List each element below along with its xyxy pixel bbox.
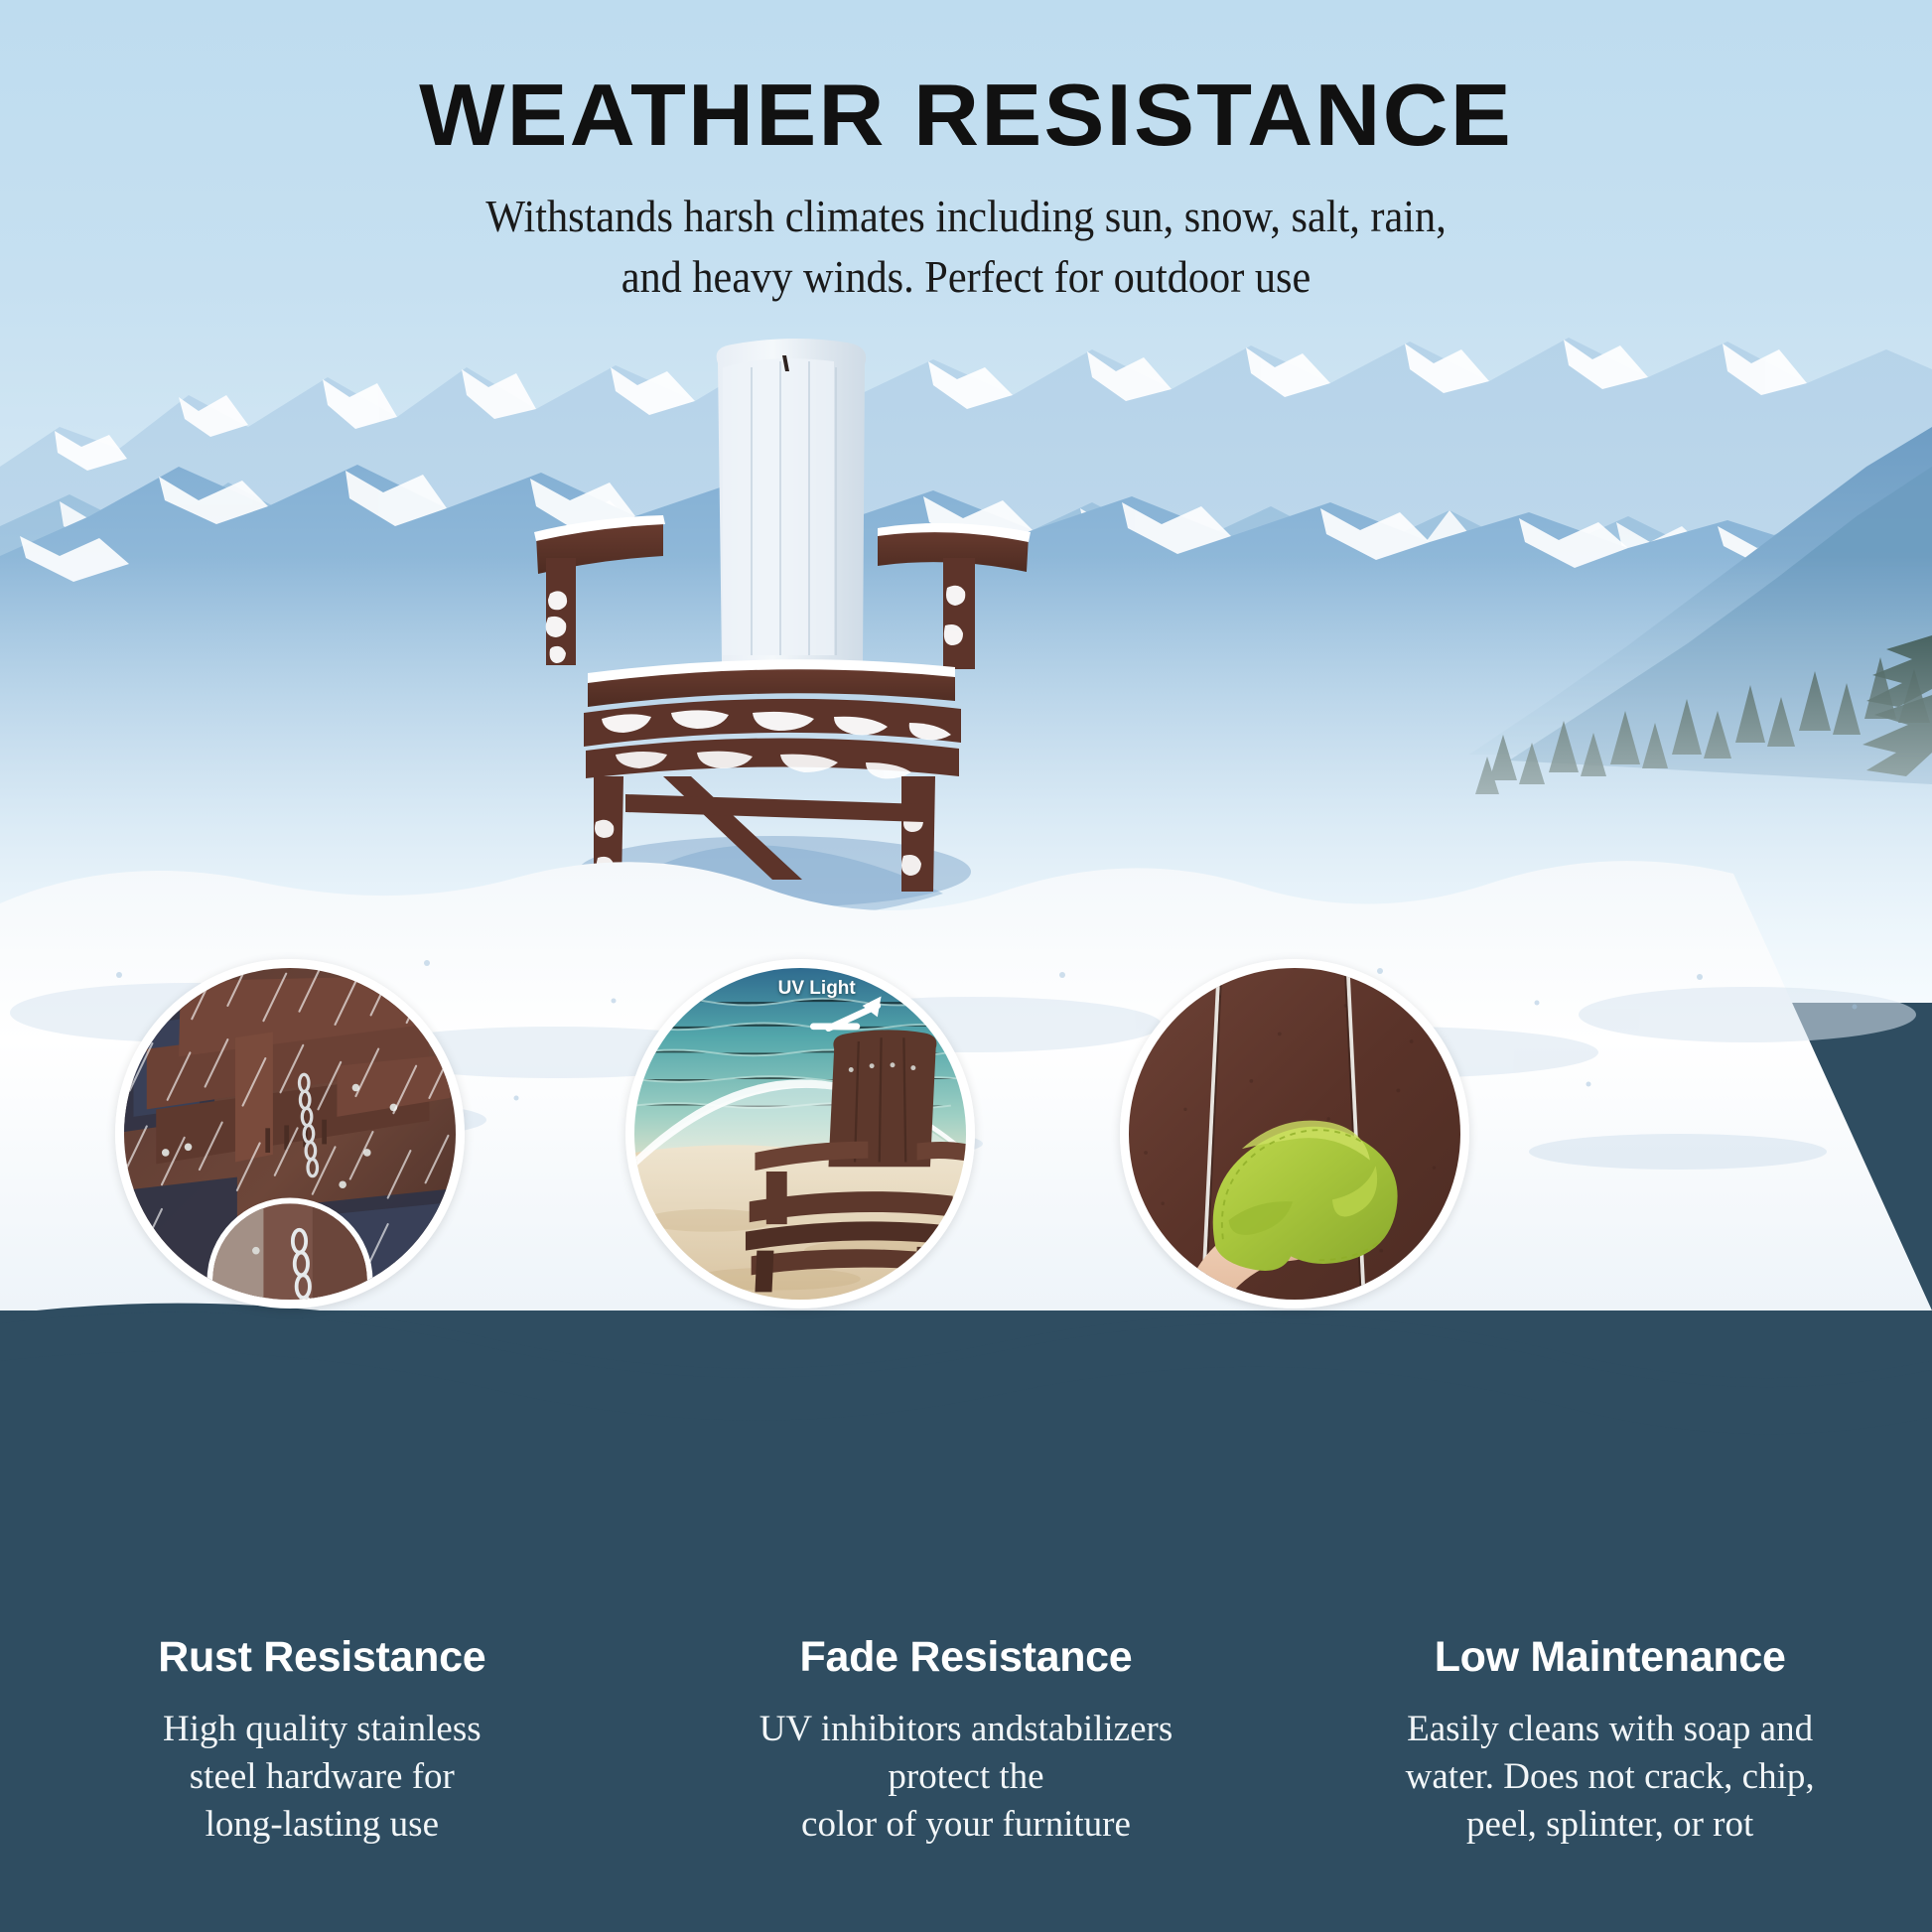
feature-title-fade-resistance: Fade Resistance [666, 1633, 1267, 1682]
uv-light-label: UV Light [778, 978, 856, 1000]
infographic-canvas: WEATHER RESISTANCE Withstands harsh clim… [0, 0, 1932, 1932]
feature-body-line: color of your furniture [666, 1801, 1267, 1849]
feature-image-fade-resistance: UV Light [625, 959, 975, 1309]
feature-body-line: UV inhibitors andstabilizers [666, 1706, 1267, 1753]
feature-body-line: steel hardware for [22, 1753, 622, 1801]
feature-body-low-maintenance: Easily cleans with soap and water. Does … [1310, 1706, 1910, 1849]
feature-rust-resistance: Rust Resistance High quality stainless s… [0, 1633, 644, 1849]
page-title: WEATHER RESISTANCE [0, 69, 1932, 161]
feature-low-maintenance: Low Maintenance Easily cleans with soap … [1288, 1633, 1932, 1849]
feature-image-rust-resistance [115, 959, 465, 1309]
feature-list: Rust Resistance High quality stainless s… [0, 1633, 1932, 1849]
feature-body-line: Easily cleans with soap and [1310, 1706, 1910, 1753]
feature-body-rust-resistance: High quality stainless steel hardware fo… [22, 1706, 622, 1849]
feature-title-low-maintenance: Low Maintenance [1310, 1633, 1910, 1682]
rust-resistance-photo [124, 968, 456, 1300]
feature-body-line: protect the [666, 1753, 1267, 1801]
subtitle-line-2: and heavy winds. Perfect for outdoor use [77, 247, 1855, 308]
feature-body-line: long-lasting use [22, 1801, 622, 1849]
fade-resistance-photo [634, 968, 966, 1300]
feature-body-line: peel, splinter, or rot [1310, 1801, 1910, 1849]
feature-fade-resistance: Fade Resistance UV inhibitors andstabili… [644, 1633, 1289, 1849]
feature-title-rust-resistance: Rust Resistance [22, 1633, 622, 1682]
feature-body-fade-resistance: UV inhibitors andstabilizers protect the… [666, 1706, 1267, 1849]
feature-body-line: High quality stainless [22, 1706, 622, 1753]
feature-image-low-maintenance [1120, 959, 1469, 1309]
low-maintenance-photo [1129, 968, 1460, 1300]
subtitle-line-1: Withstands harsh climates including sun,… [77, 187, 1855, 247]
header-block: WEATHER RESISTANCE Withstands harsh clim… [0, 69, 1932, 308]
page-subtitle: Withstands harsh climates including sun,… [77, 187, 1855, 307]
feature-body-line: water. Does not crack, chip, [1310, 1753, 1910, 1801]
